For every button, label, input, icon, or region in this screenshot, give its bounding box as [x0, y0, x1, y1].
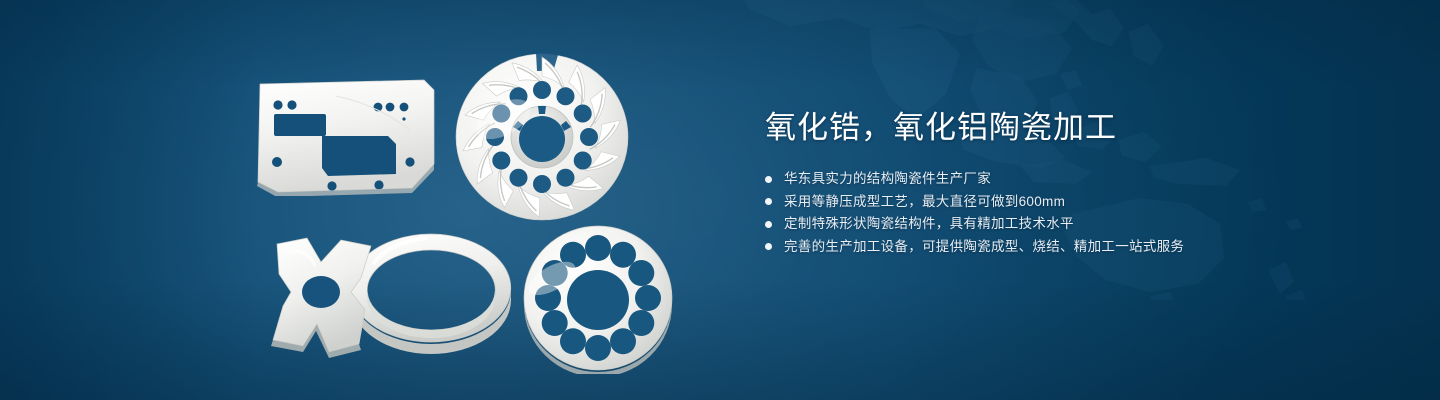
feature-text: 采用等静压成型工艺，最大直径可做到600mm: [784, 191, 1065, 213]
feature-text: 华东具实力的结构陶瓷件生产厂家: [784, 168, 991, 190]
feature-text: 定制特殊形状陶瓷结构件，具有精加工技术水平: [784, 213, 1074, 235]
list-item: 定制特殊形状陶瓷结构件，具有精加工技术水平: [765, 213, 1385, 236]
feature-text: 完善的生产加工设备，可提供陶瓷成型、烧结、精加工一站式服务: [784, 236, 1184, 258]
feature-list: 华东具实力的结构陶瓷件生产厂家 采用等静压成型工艺，最大直径可做到600mm 定…: [765, 168, 1385, 258]
list-item: 华东具实力的结构陶瓷件生产厂家: [765, 168, 1385, 191]
list-item: 采用等静压成型工艺，最大直径可做到600mm: [765, 191, 1385, 214]
bullet-dot-icon: [765, 176, 772, 183]
bullet-dot-icon: [765, 243, 772, 250]
hero-banner: 氧化锆，氧化铝陶瓷加工 华东具实力的结构陶瓷件生产厂家 采用等静压成型工艺，最大…: [0, 0, 1440, 400]
page-title: 氧化锆，氧化铝陶瓷加工: [765, 108, 1385, 148]
list-item: 完善的生产加工设备，可提供陶瓷成型、烧结、精加工一站式服务: [765, 236, 1385, 259]
bullet-dot-icon: [765, 198, 772, 205]
banner-text-content: 氧化锆，氧化铝陶瓷加工 华东具实力的结构陶瓷件生产厂家 采用等静压成型工艺，最大…: [765, 108, 1385, 258]
bullet-dot-icon: [765, 221, 772, 228]
